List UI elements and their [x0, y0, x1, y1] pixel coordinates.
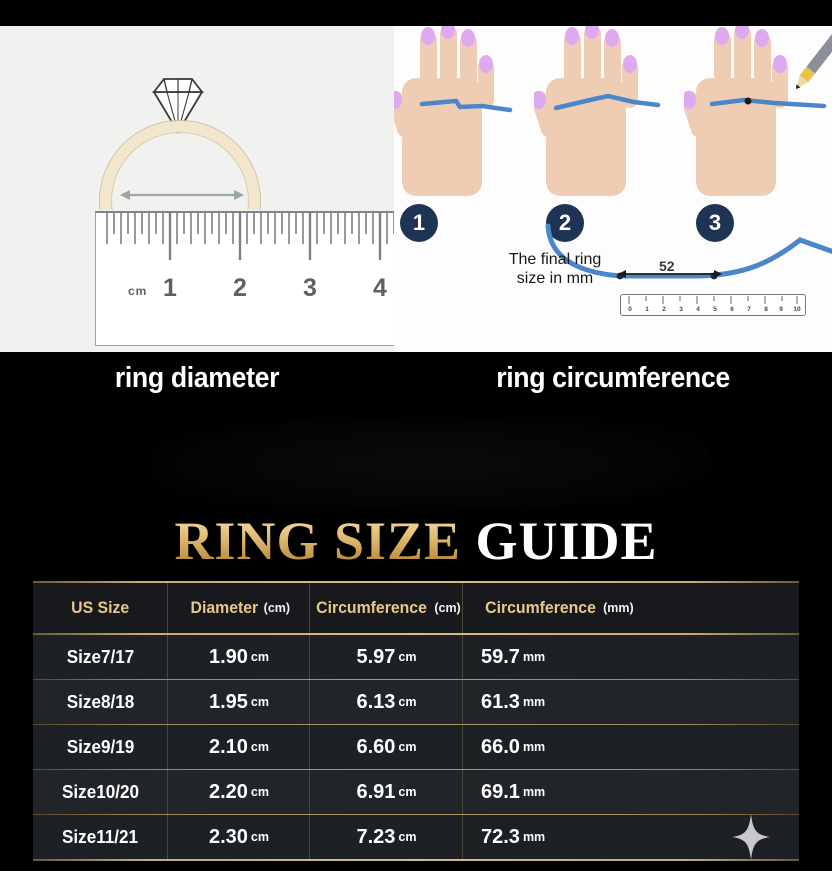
value-us-size: Size11/21	[62, 827, 138, 848]
table-rule-bottom	[33, 859, 799, 861]
ruler-number-3: 3	[303, 274, 317, 303]
value-circumference-mm: 61.3	[481, 691, 520, 714]
unit-circumference-mm: mm	[523, 650, 545, 664]
cell-circumference-mm: 59.7 mm	[463, 635, 799, 679]
ruler-ticks	[95, 212, 394, 272]
value-diameter: 2.10	[209, 736, 248, 759]
unit-circumference-cm: cm	[398, 740, 416, 754]
ring-size-table: US Size Diameter (cm) Circumference (cm)…	[33, 581, 799, 861]
cell-us-size: Size9/19	[33, 725, 168, 769]
hand-illustration-2	[534, 26, 664, 226]
cell-circumference-cm: 6.60 cm	[310, 725, 463, 769]
mini-ruler-num-9: 9	[779, 306, 783, 313]
cell-us-size: Size7/17	[33, 635, 168, 679]
table-row: Size11/21 2.30 cm 7.23 cm 72.3 mm	[33, 815, 799, 859]
value-diameter: 1.95	[209, 691, 248, 714]
table-row: Size8/18 1.95 cm 6.13 cm 61.3 mm	[33, 680, 799, 724]
header-label-circumference-cm: Circumference	[316, 598, 427, 618]
header-cell-circumference-mm: Circumference (mm)	[463, 583, 799, 633]
illustration-panels: cm 1 2 3 4	[0, 26, 832, 352]
table-row: Size10/20 2.20 cm 6.91 cm 69.1 mm	[33, 770, 799, 814]
cell-circumference-cm: 6.13 cm	[310, 680, 463, 724]
value-circumference-mm: 66.0	[481, 736, 520, 759]
redaction-smudge	[150, 416, 710, 512]
value-us-size: Size9/19	[67, 737, 135, 758]
value-us-size: Size8/18	[67, 692, 135, 713]
cell-circumference-mm: 61.3 mm	[463, 680, 799, 724]
header-unit-circumference-cm: (cm)	[434, 601, 460, 615]
ring-size-guide-page: cm 1 2 3 4	[0, 0, 832, 871]
unit-circumference-cm: cm	[398, 830, 416, 844]
table-row: Size7/17 1.90 cm 5.97 cm 59.7 mm	[33, 635, 799, 679]
header-label-diameter: Diameter	[190, 598, 258, 618]
unit-circumference-cm: cm	[398, 785, 416, 799]
mini-ruler-num-7: 7	[747, 306, 751, 313]
table-header-row: US Size Diameter (cm) Circumference (cm)…	[33, 583, 799, 633]
title-white-part: GUIDE	[476, 511, 658, 571]
ring-circumference-illustration: 1 2	[394, 26, 832, 352]
unit-circumference-cm: cm	[398, 695, 416, 709]
final-ring-size-text: The final ring size in mm	[490, 250, 620, 288]
unit-circumference-mm: mm	[523, 740, 545, 754]
step-badge-1: 1	[400, 204, 438, 242]
value-circumference-cm: 7.23	[356, 826, 395, 849]
top-black-bar	[0, 0, 832, 26]
mini-ruler: 0 1 2 3 4 5 6 7 8 9 10	[620, 294, 806, 316]
ruler-number-2: 2	[233, 274, 247, 303]
value-circumference-mm: 59.7	[481, 646, 520, 669]
mini-ruler-num-4: 4	[696, 306, 700, 313]
title-gold-part: RING SIZE	[174, 511, 461, 571]
ring-diameter-illustration: cm 1 2 3 4	[0, 26, 394, 352]
mini-ruler-num-5: 5	[713, 306, 717, 313]
page-title: RING SIZE GUIDE	[0, 510, 832, 572]
header-unit-diameter: (cm)	[264, 601, 290, 615]
cell-diameter: 1.95 cm	[168, 680, 310, 724]
value-circumference-cm: 6.13	[356, 691, 395, 714]
header-cell-us-size: US Size	[33, 583, 168, 633]
caption-ring-circumference: ring circumference	[412, 362, 815, 395]
value-diameter: 2.30	[209, 826, 248, 849]
cell-us-size: Size8/18	[33, 680, 168, 724]
pencil-icon	[776, 34, 832, 104]
unit-diameter: cm	[251, 695, 269, 709]
header-label-us-size: US Size	[71, 598, 129, 618]
final-text-line-2: size in mm	[490, 269, 620, 288]
value-circumference-cm: 6.91	[356, 781, 395, 804]
header-label-circumference-mm: Circumference	[485, 598, 596, 618]
cell-circumference-cm: 6.91 cm	[310, 770, 463, 814]
value-diameter: 1.90	[209, 646, 248, 669]
unit-circumference-mm: mm	[523, 695, 545, 709]
ruler-number-1: 1	[163, 274, 177, 303]
ruler-number-4: 4	[373, 274, 387, 303]
mini-ruler-num-10: 10	[793, 306, 800, 313]
unit-diameter: cm	[251, 830, 269, 844]
unit-diameter: cm	[251, 650, 269, 664]
caption-band: ring diameter ring circumference	[0, 352, 832, 404]
hand-illustration-1	[394, 26, 520, 226]
value-circumference-mm: 72.3	[481, 826, 520, 849]
cell-diameter: 2.10 cm	[168, 725, 310, 769]
value-circumference-cm: 6.60	[356, 736, 395, 759]
table-row: Size9/19 2.10 cm 6.60 cm 66.0 mm	[33, 725, 799, 769]
cell-circumference-mm: 66.0 mm	[463, 725, 799, 769]
unit-diameter: cm	[251, 740, 269, 754]
mini-ruler-num-0: 0	[628, 306, 632, 313]
cell-diameter: 2.30 cm	[168, 815, 310, 859]
cell-diameter: 2.20 cm	[168, 770, 310, 814]
header-cell-diameter: Diameter (cm)	[168, 583, 310, 633]
value-us-size: Size7/17	[67, 647, 135, 668]
unit-circumference-cm: cm	[398, 650, 416, 664]
cell-circumference-mm: 69.1 mm	[463, 770, 799, 814]
unit-diameter: cm	[251, 785, 269, 799]
unit-circumference-mm: mm	[523, 830, 545, 844]
mini-ruler-num-6: 6	[730, 306, 734, 313]
cell-us-size: Size11/21	[33, 815, 168, 859]
unit-circumference-mm: mm	[523, 785, 545, 799]
measurement-value: 52	[659, 258, 675, 274]
header-cell-circumference-cm: Circumference (cm)	[310, 583, 463, 633]
cell-circumference-cm: 5.97 cm	[310, 635, 463, 679]
final-text-line-1: The final ring	[490, 250, 620, 269]
cell-diameter: 1.90 cm	[168, 635, 310, 679]
mini-ruler-num-3: 3	[679, 306, 683, 313]
value-circumference-cm: 5.97	[356, 646, 395, 669]
mini-ruler-num-2: 2	[662, 306, 666, 313]
cell-circumference-cm: 7.23 cm	[310, 815, 463, 859]
mini-ruler-num-1: 1	[645, 306, 649, 313]
caption-ring-diameter: ring diameter	[16, 362, 378, 395]
header-unit-circumference-mm: (mm)	[603, 601, 634, 615]
diameter-arrow-icon	[118, 186, 246, 204]
cell-us-size: Size10/20	[33, 770, 168, 814]
value-diameter: 2.20	[209, 781, 248, 804]
mini-ruler-num-8: 8	[764, 306, 768, 313]
ruler-unit-label: cm	[128, 284, 147, 298]
value-us-size: Size10/20	[62, 782, 139, 803]
sparkle-icon	[731, 814, 771, 860]
value-circumference-mm: 69.1	[481, 781, 520, 804]
